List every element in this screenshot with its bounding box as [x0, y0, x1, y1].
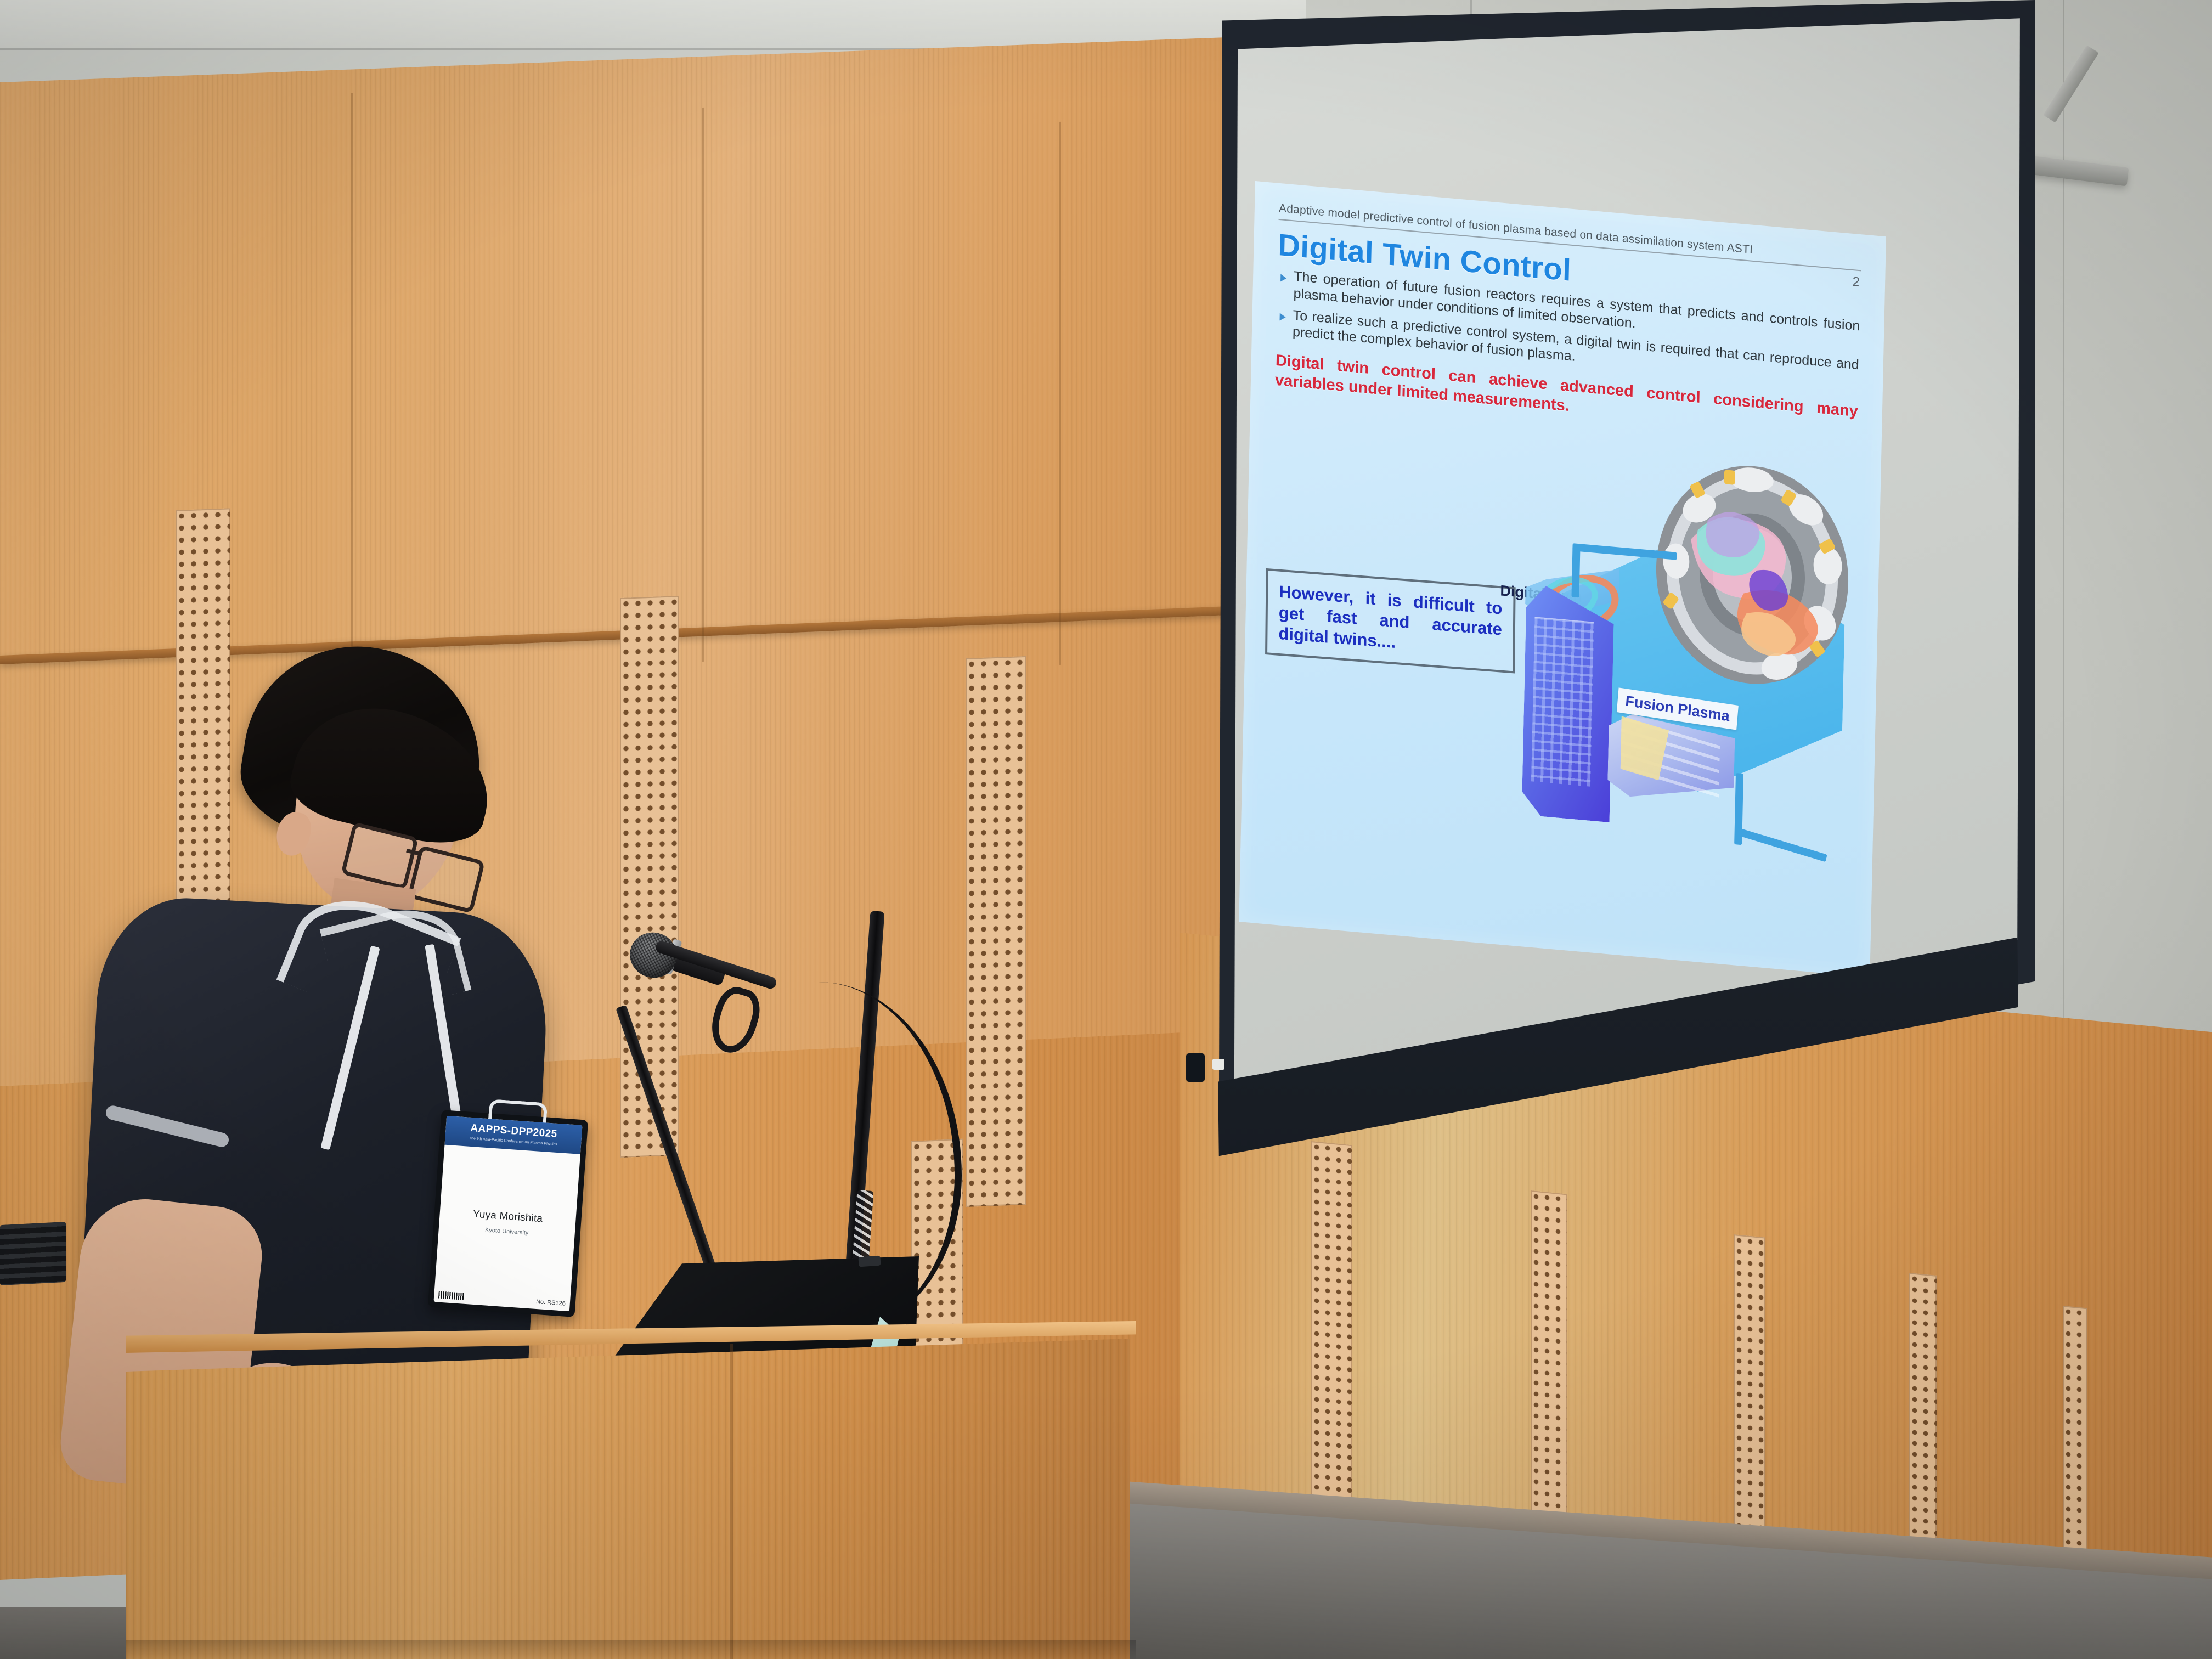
illustration-cable-4	[1735, 827, 1827, 862]
presentation-photo: Adaptive model predictive control of fus…	[0, 0, 2212, 1659]
wood-joint-1	[351, 93, 353, 658]
badge-registration-number: No. RS126	[536, 1298, 566, 1307]
podium-panel-seam	[730, 1344, 733, 1659]
badge-body: Yuya Morishita Kyoto University	[435, 1145, 580, 1300]
projected-slide: Adaptive model predictive control of fus…	[1239, 181, 1886, 977]
wood-joint-2	[702, 108, 704, 662]
projection-screen-assembly: Adaptive model predictive control of fus…	[1180, 0, 2112, 1196]
slide-page-number: 2	[1852, 274, 1860, 290]
acoustic-panel-7	[1734, 1234, 1765, 1556]
tokamak-cutaway-icon	[1637, 453, 1861, 708]
badge-affiliation: Kyoto University	[485, 1227, 529, 1237]
wood-joint-3	[1059, 122, 1061, 665]
podium-floor-shadow	[126, 1640, 1136, 1659]
slide-illustration: Fusion Plasma	[1515, 447, 1881, 906]
badge-attendee-name: Yuya Morishita	[472, 1208, 543, 1225]
wall-vent	[0, 1222, 66, 1285]
conference-name-badge: AAPPS-DPP2025 The 9th Asia-Pacific Confe…	[428, 1110, 588, 1317]
acoustic-panel-6	[1531, 1190, 1567, 1534]
acoustic-panel-9	[2063, 1306, 2087, 1582]
acoustic-panel-3	[966, 656, 1026, 1207]
screen-roller-endcap	[1186, 1053, 1205, 1082]
slide-callout-text: However, it is difficult to get fast and…	[1278, 582, 1502, 661]
illustration-cable-1	[1571, 544, 1580, 597]
badge-barcode-icon	[438, 1291, 464, 1300]
acoustic-panel-8	[1909, 1273, 1937, 1572]
podium	[126, 1339, 1130, 1659]
screen-pull-tab[interactable]	[1212, 1059, 1224, 1070]
illustration-server-racks	[1531, 617, 1594, 787]
badge-card: AAPPS-DPP2025 The 9th Asia-Pacific Confe…	[433, 1116, 582, 1311]
laptop-hinge	[858, 1256, 881, 1267]
